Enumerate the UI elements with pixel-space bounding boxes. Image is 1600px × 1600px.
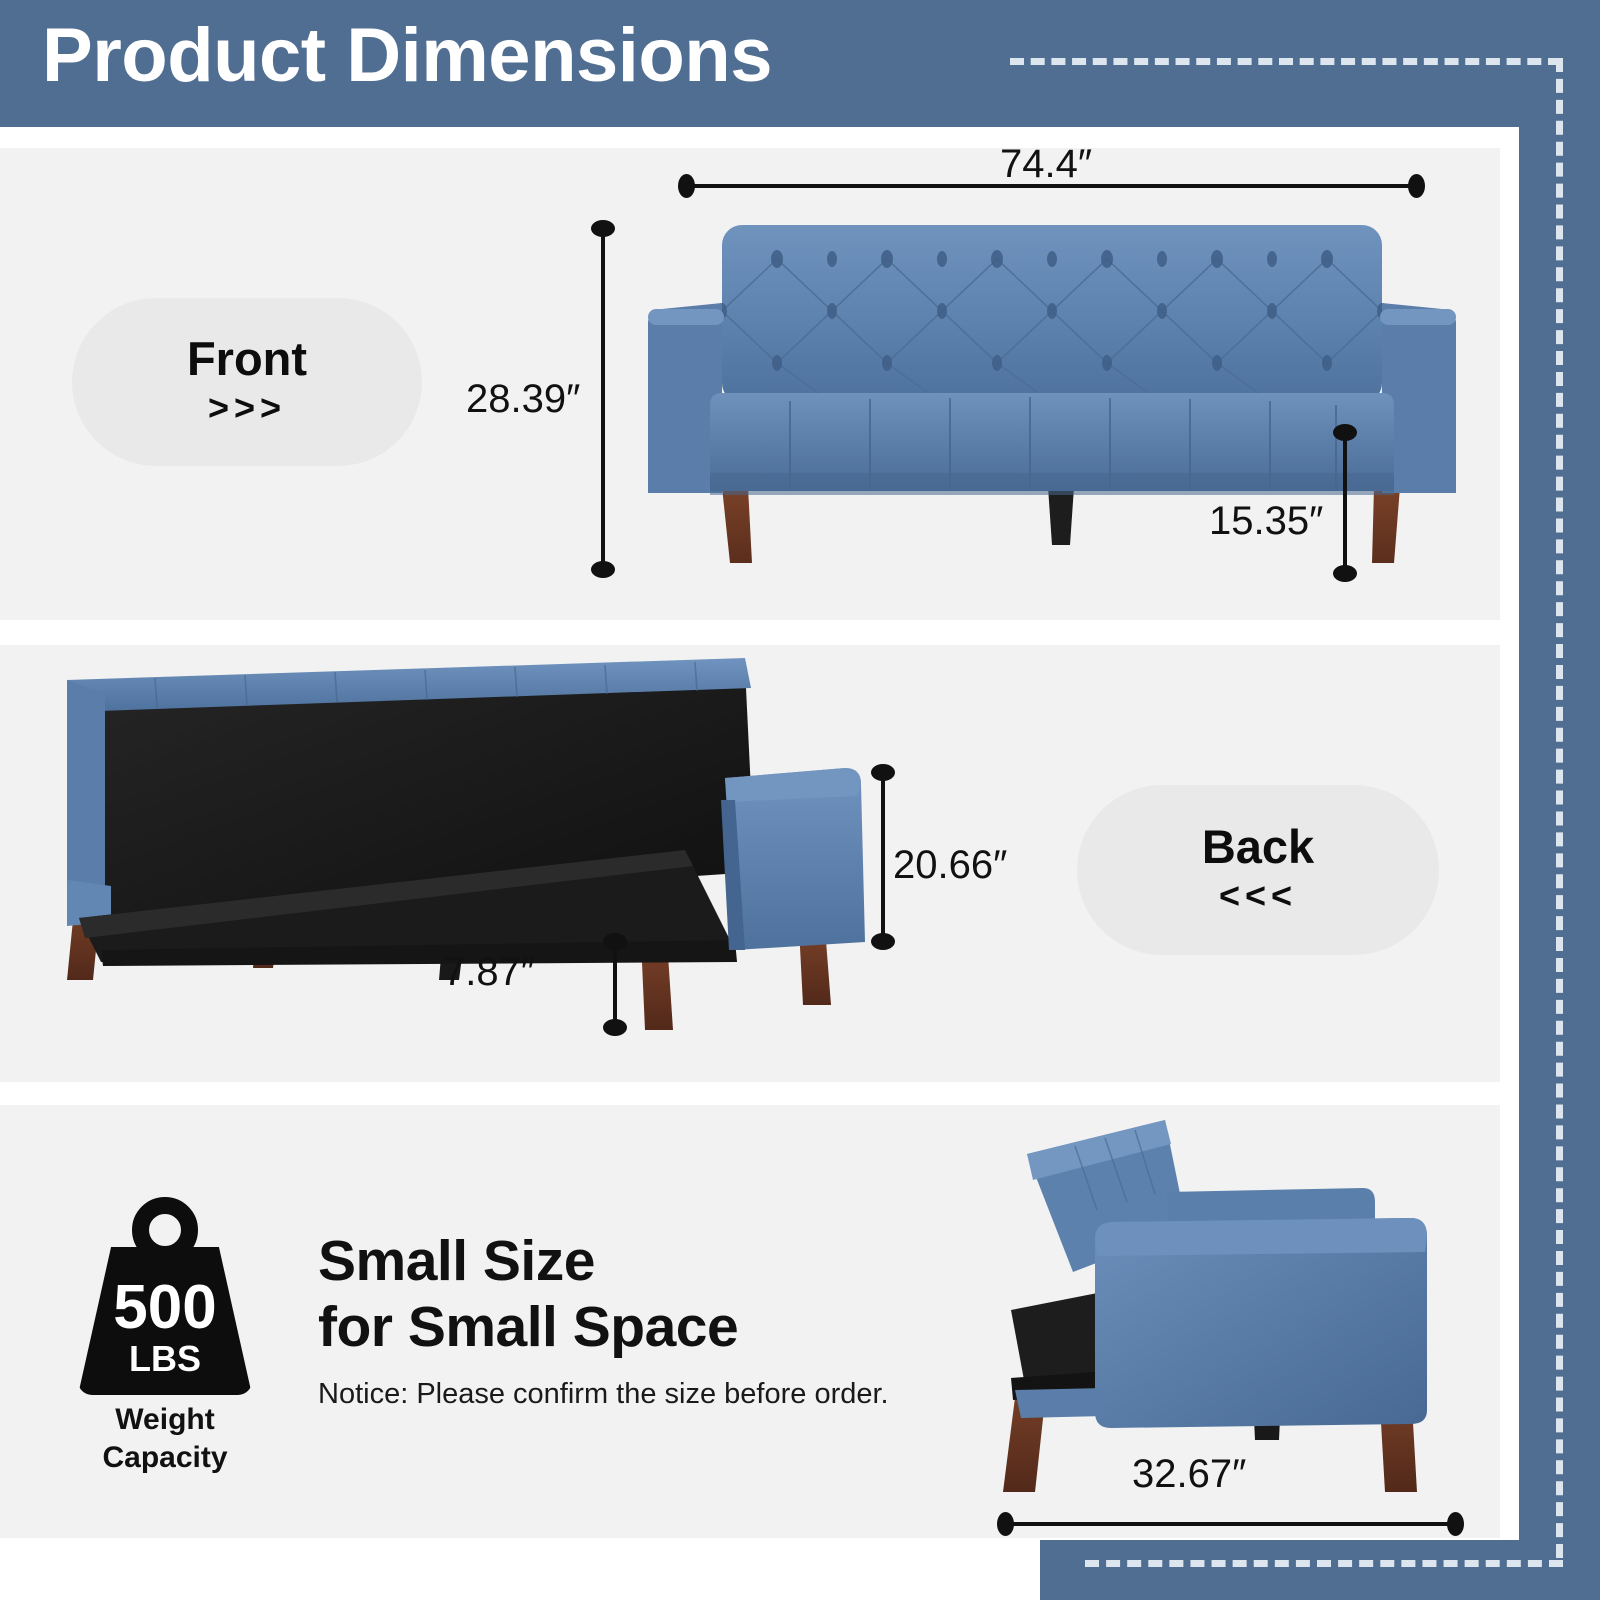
dim-line-seat-height xyxy=(1343,432,1347,572)
badge-back-view: Back <<< xyxy=(1077,785,1439,955)
dim-dot-width-right xyxy=(1408,174,1425,198)
promo-line-2: for Small Space xyxy=(318,1294,1018,1360)
dim-line-width xyxy=(686,184,1416,188)
weight-caption-line1: Weight xyxy=(72,1401,258,1439)
dim-line-depth xyxy=(1005,1522,1455,1526)
dim-dot-clearance-top xyxy=(603,933,627,950)
weight-number: 500 xyxy=(72,1277,258,1339)
weight-caption: Weight Capacity xyxy=(72,1401,258,1476)
dim-dot-height-top xyxy=(591,220,615,237)
dim-label-seat-height: 15.35″ xyxy=(1209,499,1323,544)
back-pill-arrows: <<< xyxy=(1219,873,1297,918)
dim-dot-clearance-bottom xyxy=(603,1019,627,1036)
weight-capacity-badge: 500 LBS Weight Capacity xyxy=(72,1195,258,1476)
back-pill-label: Back xyxy=(1202,822,1314,871)
weight-unit: LBS xyxy=(72,1341,258,1377)
promo-copy: Small Size for Small Space Notice: Pleas… xyxy=(318,1228,1018,1411)
front-pill-label: Front xyxy=(187,334,307,383)
sofa-front-illustration xyxy=(630,215,1475,585)
dim-dot-depth-left xyxy=(997,1512,1014,1536)
dim-dot-height-bottom xyxy=(591,561,615,578)
dim-line-clearance xyxy=(613,941,617,1026)
dashed-border-right xyxy=(1556,58,1563,1558)
page-title: Product Dimensions xyxy=(42,8,772,103)
dim-line-bed-height xyxy=(881,772,885,940)
promo-line-1: Small Size xyxy=(318,1228,1018,1294)
dim-label-width: 74.4″ xyxy=(1000,142,1092,187)
dim-dot-width-left xyxy=(678,174,695,198)
dim-label-bed-height: 20.66″ xyxy=(893,843,1007,888)
dashed-border-bottom xyxy=(1085,1560,1563,1567)
dim-dot-seat-bottom xyxy=(1333,565,1357,582)
dashed-border-top xyxy=(1010,58,1562,65)
weight-caption-line2: Capacity xyxy=(72,1439,258,1477)
dim-dot-bed-top xyxy=(871,764,895,781)
dim-dot-seat-top xyxy=(1333,424,1357,441)
dim-label-depth: 32.67″ xyxy=(1132,1452,1246,1497)
dim-dot-depth-right xyxy=(1447,1512,1464,1536)
promo-notice: Notice: Please confirm the size before o… xyxy=(318,1378,1018,1411)
badge-front-view: Front >>> xyxy=(72,298,422,466)
weight-icon: 500 LBS xyxy=(72,1195,258,1395)
dim-label-clearance: 7.87″ xyxy=(443,950,535,995)
sofa-side-illustration xyxy=(955,1110,1485,1510)
bottom-blue-band xyxy=(1040,1540,1600,1600)
front-pill-arrows: >>> xyxy=(208,385,286,430)
dim-label-overall-height: 28.39″ xyxy=(466,377,580,422)
product-dimensions-infographic: Product Dimensions Front >>> xyxy=(0,0,1600,1600)
dim-dot-bed-bottom xyxy=(871,933,895,950)
dim-line-overall-height xyxy=(601,228,605,568)
